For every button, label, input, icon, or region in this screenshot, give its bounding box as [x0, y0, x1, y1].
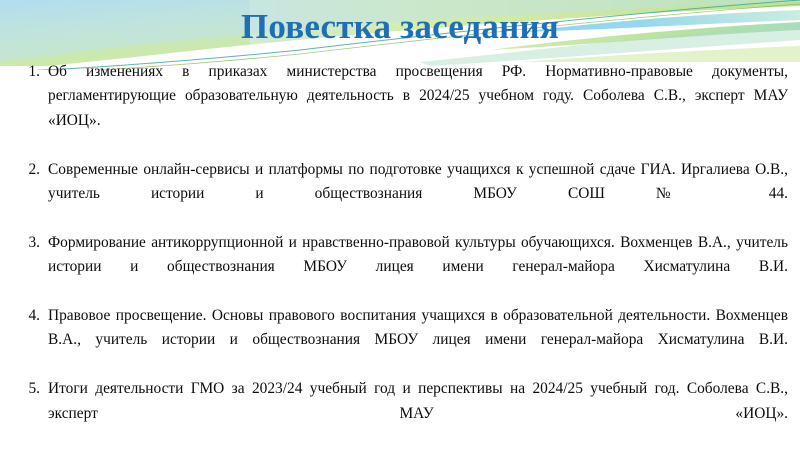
list-item: 2. Современные онлайн-сервисы и платформ… [16, 158, 788, 231]
presentation-slide: Повестка заседания 1. Об изменениях в пр… [0, 0, 800, 450]
list-item-text: Современные онлайн-сервисы и платформы п… [48, 158, 788, 231]
list-item-number: 3. [16, 231, 48, 255]
agenda-list: 1. Об изменениях в приказах министерства… [16, 60, 788, 450]
list-item-number: 1. [16, 60, 48, 84]
list-item-text: Об изменениях в приказах министерства пр… [48, 60, 788, 158]
list-item-number: 4. [16, 304, 48, 328]
list-item-text: Правовое просвещение. Основы правового в… [48, 304, 788, 377]
list-item-number: 5. [16, 377, 48, 401]
list-item-number: 2. [16, 158, 48, 182]
list-item-text: Формирование антикоррупционной и нравств… [48, 231, 788, 304]
list-item-text: Итоги деятельности ГМО за 2023/24 учебны… [48, 377, 788, 450]
list-item: 4. Правовое просвещение. Основы правовог… [16, 304, 788, 377]
list-item: 1. Об изменениях в приказах министерства… [16, 60, 788, 158]
list-item: 3. Формирование антикоррупционной и нрав… [16, 231, 788, 304]
page-title: Повестка заседания [0, 6, 800, 48]
list-item: 5. Итоги деятельности ГМО за 2023/24 уче… [16, 377, 788, 450]
